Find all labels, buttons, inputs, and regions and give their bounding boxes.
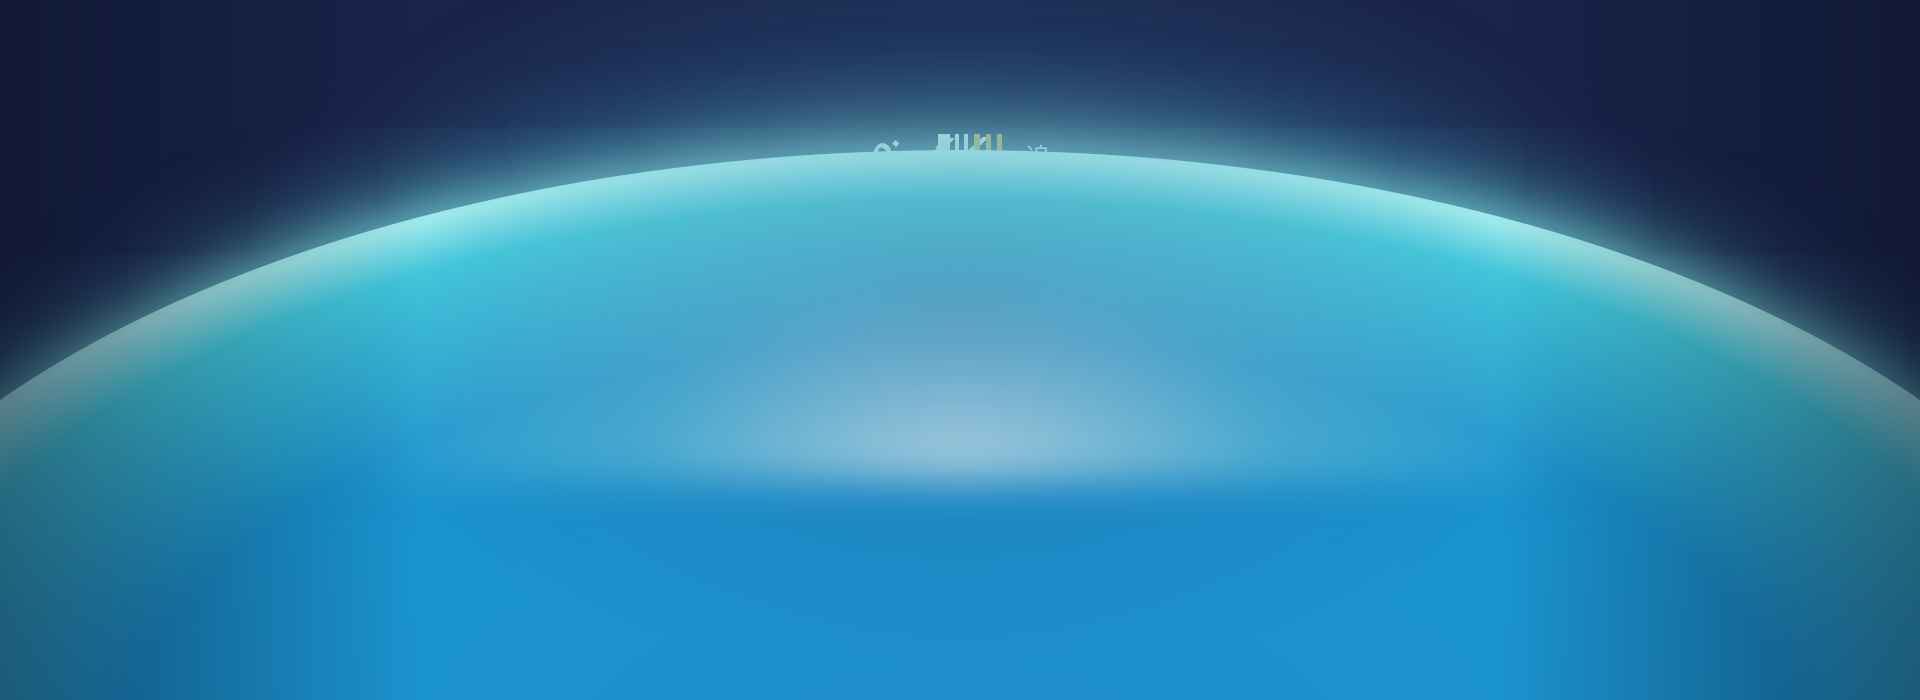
- vignette-overlay: [0, 0, 1920, 700]
- hero-banner: No. 追求卓越 精心雕琢 每个作品 用心服务 每位客户: [0, 0, 1920, 700]
